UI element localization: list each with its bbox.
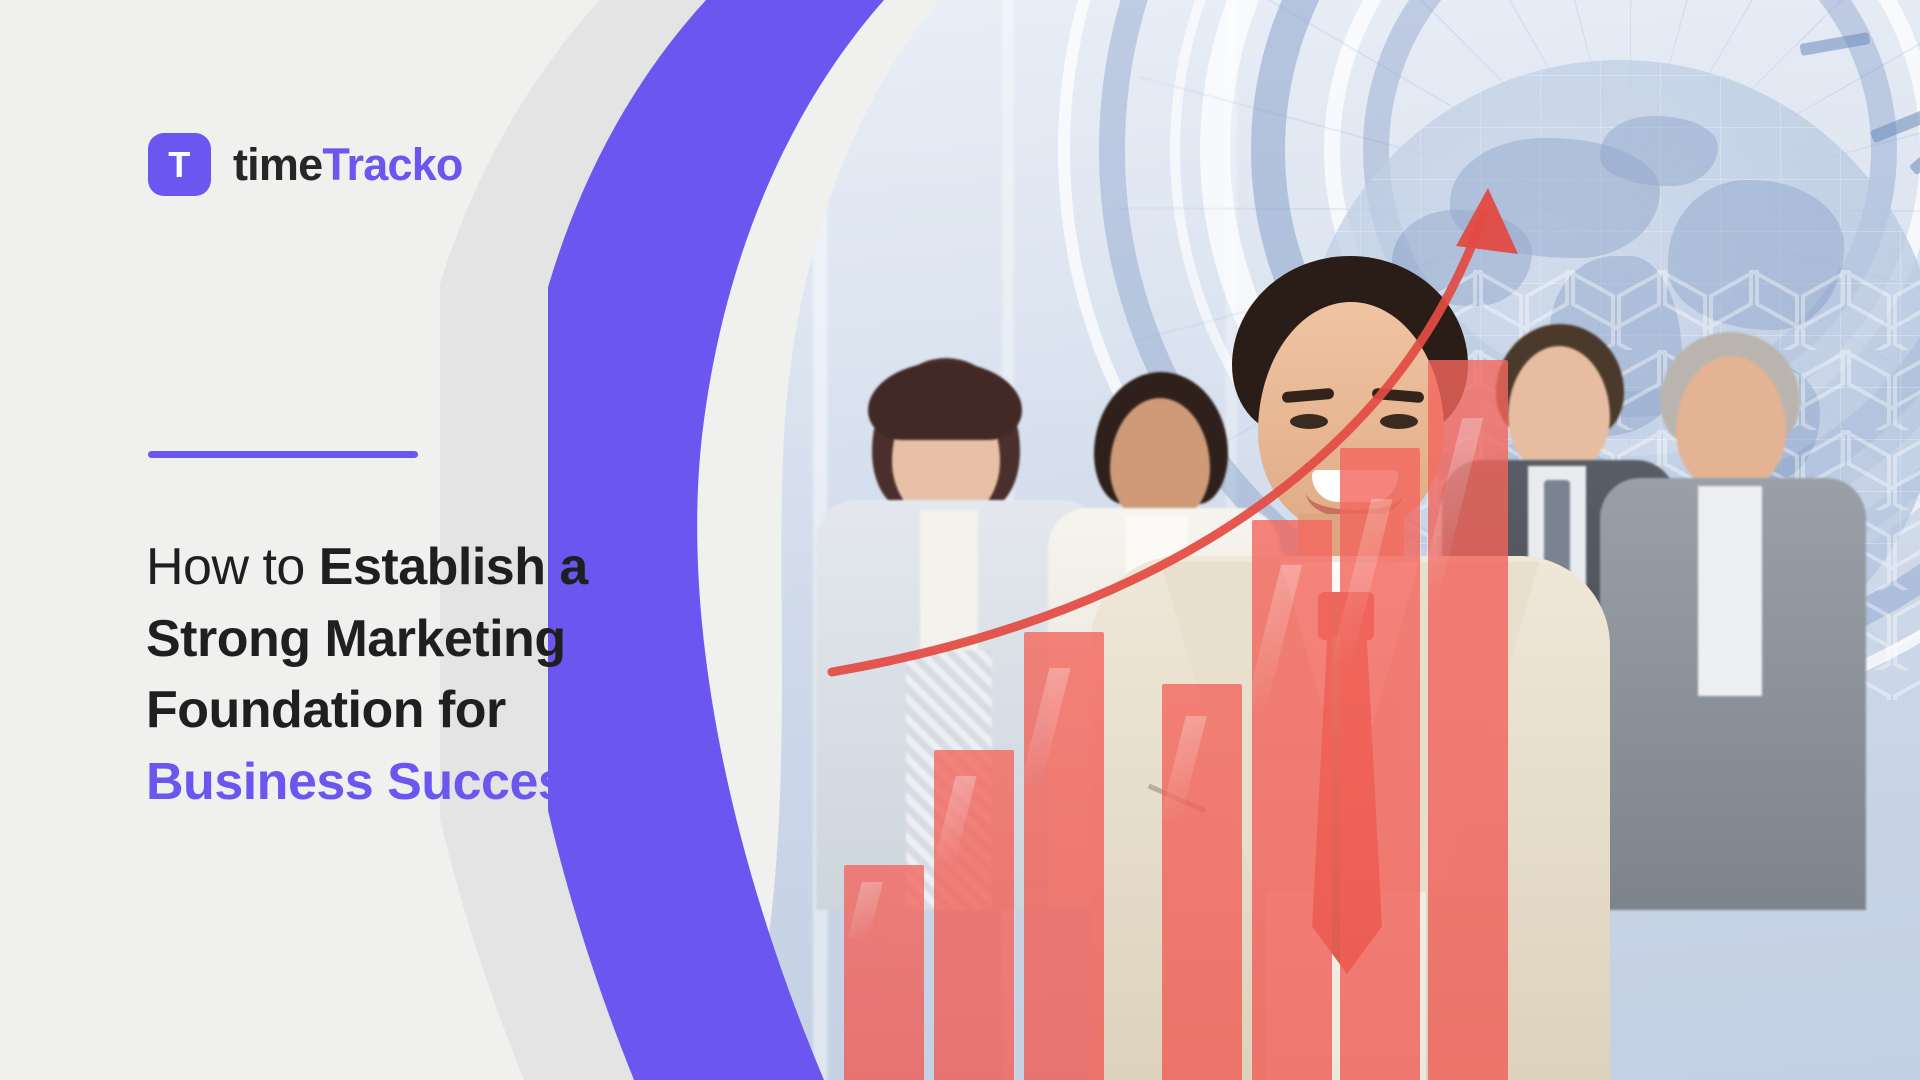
cover-canvas: T timeTracko How to Establish a Strong M… (0, 0, 1920, 1080)
page-title: How to Establish a Strong Marketing Foun… (146, 532, 706, 819)
chart-bar (844, 865, 924, 1080)
left-content-panel: T timeTracko How to Establish a Strong M… (0, 0, 740, 1080)
brand-logo[interactable]: T timeTracko (148, 133, 463, 196)
overlay-bar-chart (740, 0, 1920, 1080)
chart-bar (1428, 360, 1508, 1080)
chart-bar (1162, 684, 1242, 1080)
headline-line-1-bold: Establish a (319, 538, 588, 596)
chart-bar (1340, 448, 1420, 1080)
accent-divider (148, 451, 418, 458)
headline-line-2: Strong Marketing (146, 610, 566, 668)
brand-name-part-1: time (233, 139, 322, 190)
hero-photo-panel (740, 0, 1920, 1080)
chart-bar (934, 750, 1014, 1080)
logo-mark-letter: T (168, 147, 191, 183)
brand-name: timeTracko (233, 139, 463, 191)
chart-bar (1252, 520, 1332, 1080)
headline-line-1-light: How to (146, 538, 319, 596)
headline-line-4-accent: Business Success? (146, 753, 626, 811)
logo-mark-icon: T (148, 133, 211, 196)
brand-name-part-2: Tracko (322, 139, 462, 190)
chart-bar (1024, 632, 1104, 1080)
headline-line-3: Foundation for (146, 681, 506, 739)
